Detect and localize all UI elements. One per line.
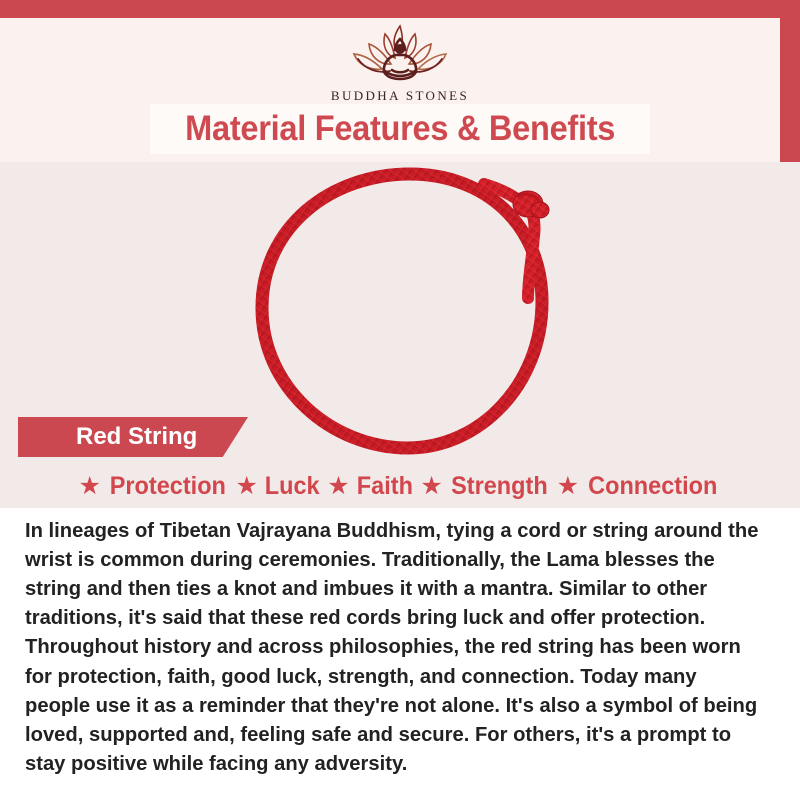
- feature-label: Faith: [356, 472, 412, 501]
- title-banner: Material Features & Benefits: [150, 104, 650, 154]
- star-icon: ★: [327, 474, 349, 499]
- features-row: ★ Protection ★ Luck ★ Faith ★ Strength ★…: [0, 466, 800, 506]
- feature-label: Strength: [451, 472, 548, 501]
- top-red-band: [0, 0, 800, 18]
- feature-item: ★ Protection: [78, 472, 229, 501]
- description-panel: In lineages of Tibetan Vajrayana Buddhis…: [0, 508, 800, 800]
- description-text: In lineages of Tibetan Vajrayana Buddhis…: [25, 516, 759, 778]
- feature-item: ★ Connection: [557, 472, 722, 501]
- feature-item: ★ Faith: [327, 472, 414, 501]
- feature-label: Luck: [265, 472, 320, 501]
- product-label: Red String: [76, 423, 197, 451]
- star-icon: ★: [557, 474, 579, 499]
- star-icon: ★: [236, 474, 258, 499]
- feature-label: Connection: [588, 472, 717, 501]
- infographic-page: BUDDHA STONES Material Features & Benefi…: [0, 0, 800, 800]
- product-hero: [0, 162, 800, 510]
- star-icon: ★: [78, 474, 100, 499]
- brand-name: BUDDHA STONES: [331, 88, 469, 104]
- page-title: Material Features & Benefits: [185, 109, 615, 149]
- brand-logo: BUDDHA STONES: [0, 22, 800, 104]
- feature-item: ★ Strength: [420, 472, 550, 501]
- feature-label: Protection: [110, 472, 226, 501]
- product-label-banner: Red String: [18, 417, 248, 457]
- lotus-meditation-icon: [338, 22, 462, 84]
- feature-item: ★ Luck: [236, 472, 322, 501]
- star-icon: ★: [420, 474, 442, 499]
- red-string-bracelet-image: [222, 162, 602, 462]
